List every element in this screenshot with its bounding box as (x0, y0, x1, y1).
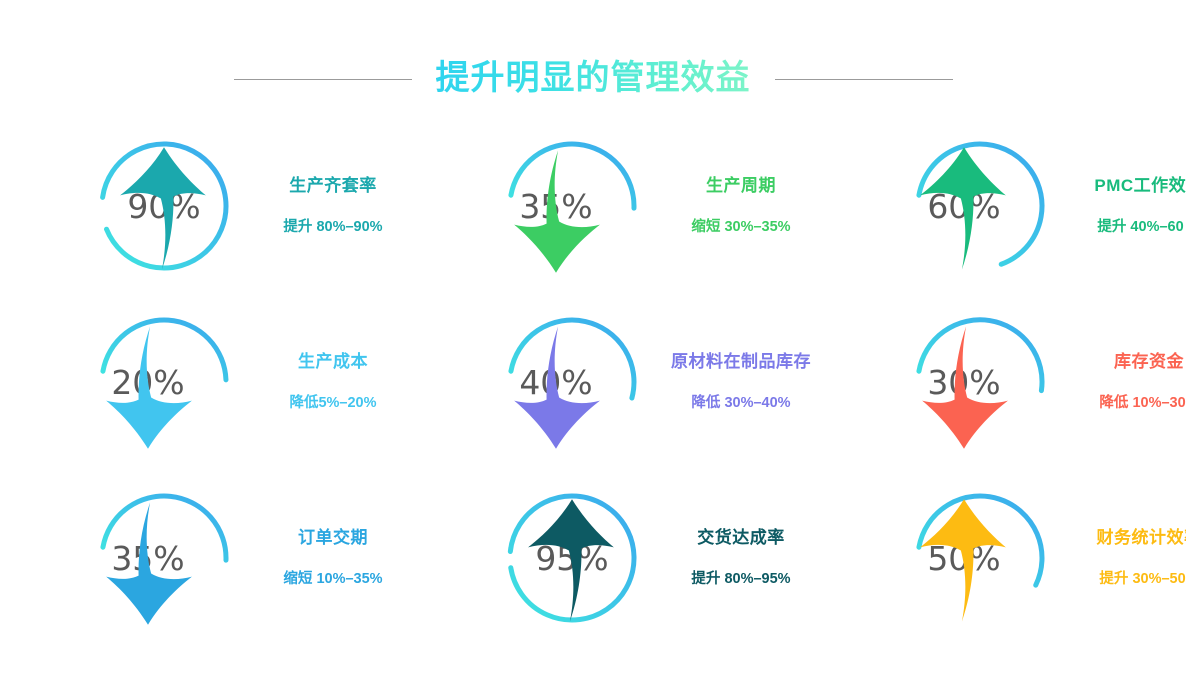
progress-ring: 40% (504, 314, 640, 450)
metric-delta: 提升 80%–95% (691, 571, 790, 588)
metric-delta: 降低 10%–30% (1099, 395, 1186, 412)
page-header: 提升明显的管理效益 (0, 52, 1186, 106)
metric-label: 交货达成率 (697, 528, 785, 548)
metric-text-block: 库存资金降低 10%–30% (1074, 352, 1186, 412)
metric-card: 40% 原材料在制品库存降低 30%–40% (408, 294, 816, 470)
metrics-grid: 90% 生产齐套率提升 80%–90% 35% 生产周期缩短 30%–35% (0, 118, 1186, 646)
ring-center: 40% (488, 314, 624, 450)
progress-ring: 95% (504, 490, 640, 626)
progress-ring: 35% (96, 490, 232, 626)
ring-center: 30% (896, 314, 1032, 450)
metric-text-block: 原材料在制品库存降低 30%–40% (666, 352, 816, 412)
metric-label: 订单交期 (298, 528, 368, 548)
ring-center: 95% (504, 490, 640, 626)
metric-text-block: 生产成本降低5%–20% (258, 352, 408, 412)
metric-card: 90% 生产齐套率提升 80%–90% (0, 118, 408, 294)
ring-center: 35% (80, 490, 216, 626)
metric-delta: 缩短 30%–35% (691, 219, 790, 236)
ring-center: 20% (80, 314, 216, 450)
metric-label: 生产周期 (706, 176, 776, 196)
metric-text-block: 订单交期缩短 10%–35% (258, 528, 408, 588)
metric-delta: 降低 30%–40% (691, 395, 790, 412)
metric-card: 60% PMC工作效率提升 40%–60 % (816, 118, 1186, 294)
metric-label: 生产成本 (298, 352, 368, 372)
divider-left (234, 79, 412, 80)
metric-delta: 提升 40%–60 % (1097, 219, 1186, 236)
progress-ring: 30% (912, 314, 1048, 450)
metric-delta: 缩短 10%–35% (283, 571, 382, 588)
metric-label: PMC工作效率 (1094, 176, 1186, 196)
metric-card: 35% 订单交期缩短 10%–35% (0, 470, 408, 646)
metric-delta: 降低5%–20% (289, 395, 376, 412)
divider-right (775, 79, 953, 80)
metric-card: 50% 财务统计效率提升 30%–50% (816, 470, 1186, 646)
metric-label: 财务统计效率 (1097, 528, 1186, 548)
progress-ring: 35% (504, 138, 640, 274)
metric-label: 库存资金 (1114, 352, 1184, 372)
progress-ring: 20% (96, 314, 232, 450)
metric-text-block: PMC工作效率提升 40%–60 % (1074, 176, 1186, 236)
ring-center: 60% (896, 138, 1032, 274)
ring-center: 90% (96, 138, 232, 274)
metric-card: 30% 库存资金降低 10%–30% (816, 294, 1186, 470)
metric-text-block: 生产周期缩短 30%–35% (666, 176, 816, 236)
metric-label: 生产齐套率 (289, 176, 377, 196)
progress-ring: 60% (912, 138, 1048, 274)
metric-card: 35% 生产周期缩短 30%–35% (408, 118, 816, 294)
metric-text-block: 生产齐套率提升 80%–90% (258, 176, 408, 236)
metric-card: 95% 交货达成率提升 80%–95% (408, 470, 816, 646)
ring-center: 50% (896, 490, 1032, 626)
metric-text-block: 交货达成率提升 80%–95% (666, 528, 816, 588)
progress-ring: 90% (96, 138, 232, 274)
metric-card: 20% 生产成本降低5%–20% (0, 294, 408, 470)
page-title: 提升明显的管理效益 (436, 59, 751, 98)
metric-text-block: 财务统计效率提升 30%–50% (1074, 528, 1186, 588)
metric-label: 原材料在制品库存 (671, 352, 811, 372)
ring-center: 35% (488, 138, 624, 274)
metric-delta: 提升 30%–50% (1099, 571, 1186, 588)
progress-ring: 50% (912, 490, 1048, 626)
metric-delta: 提升 80%–90% (283, 219, 382, 236)
